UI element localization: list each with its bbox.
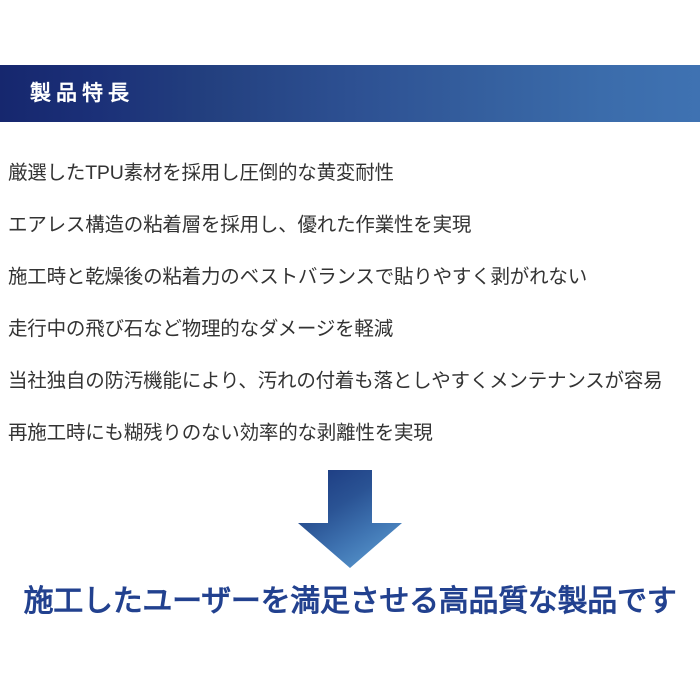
feature-item: 厳選したTPU素材を採用し圧倒的な黄変耐性 [0, 148, 700, 200]
feature-item: 施工時と乾燥後の粘着力のベストバランスで貼りやすく剥がれない [0, 252, 700, 304]
feature-list: 厳選したTPU素材を採用し圧倒的な黄変耐性 エアレス構造の粘着層を採用し、優れた… [0, 148, 700, 460]
conclusion-banner: 施工したユーザーを満足させる高品質な製品です [0, 578, 700, 626]
feature-item: 当社独自の防汚機能により、汚れの付着も落としやすくメンテナンスが容易 [0, 356, 700, 408]
conclusion-text: 施工したユーザーを満足させる高品質な製品です [24, 587, 677, 617]
section-header-bar: 製品特長 [0, 65, 700, 122]
section-header-title: 製品特長 [30, 83, 134, 104]
feature-item: 走行中の飛び石など物理的なダメージを軽減 [0, 304, 700, 356]
feature-item: エアレス構造の粘着層を採用し、優れた作業性を実現 [0, 200, 700, 252]
feature-item: 再施工時にも糊残りのない効率的な剥離性を実現 [0, 408, 700, 460]
arrow-container [0, 468, 700, 572]
arrow-down-icon [298, 468, 402, 570]
product-feature-panel: 製品特長 厳選したTPU素材を採用し圧倒的な黄変耐性 エアレス構造の粘着層を採用… [0, 0, 700, 700]
